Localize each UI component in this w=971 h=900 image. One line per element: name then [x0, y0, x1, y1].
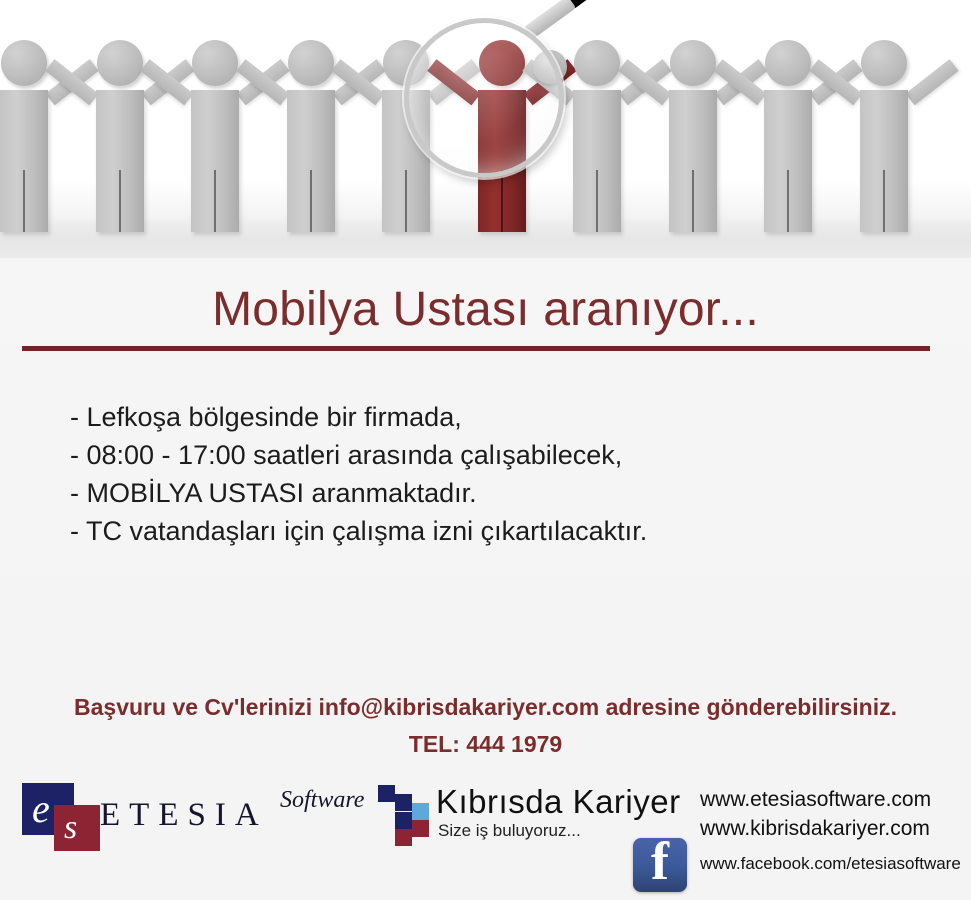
person-figure: [846, 40, 922, 232]
kibrisda-kariyer-wordmark: Kıbrısda Kariyer: [436, 783, 681, 821]
etesia-software-logo: e s ETESIA Software: [18, 783, 368, 853]
job-detail-line: - TC vatandaşları için çalışma izni çıka…: [70, 512, 900, 550]
job-detail-line: - MOBİLYA USTASI aranmaktadır.: [70, 474, 900, 512]
figure-head: [97, 40, 143, 86]
url-etesiasoftware[interactable]: www.etesiasoftware.com: [700, 785, 971, 814]
title-divider: [22, 346, 930, 351]
etesia-mark-s: s: [64, 809, 77, 847]
figure-leg-gap: [596, 170, 598, 232]
figure-head: [192, 40, 238, 86]
kk-square-navy-2: [395, 794, 412, 811]
etesia-wordmark: ETESIA: [100, 797, 268, 834]
figure-leg-gap: [692, 170, 694, 232]
figure-leg-gap: [501, 170, 503, 232]
figure-head: [288, 40, 334, 86]
figure-arm-right: [905, 59, 958, 105]
website-links: www.etesiasoftware.com www.kibrisdakariy…: [700, 785, 971, 877]
kk-square-navy-3: [395, 812, 412, 829]
etesia-suffix: Software: [280, 787, 364, 814]
etesia-mark-e: e: [32, 785, 50, 832]
kk-square-navy-1: [378, 785, 395, 802]
kk-square-red-1: [412, 820, 429, 837]
hero-image: [0, 0, 971, 258]
figure-leg-gap: [23, 170, 25, 232]
figure-body: [860, 90, 908, 232]
figure-leg-gap: [883, 170, 885, 232]
url-kibrisdakariyer[interactable]: www.kibrisdakariyer.com: [700, 814, 971, 843]
job-ad-poster: Mobilya Ustası aranıyor... - Lefkoşa böl…: [0, 0, 971, 900]
job-details-list: - Lefkoşa bölgesinde bir firmada,- 08:00…: [70, 398, 900, 550]
figure-body: [764, 90, 812, 232]
figure-leg-gap: [310, 170, 312, 232]
figure-head: [574, 40, 620, 86]
kibrisda-kariyer-tagline: Size iş buluyoruz...: [438, 821, 581, 841]
kk-square-lightblue: [412, 803, 429, 820]
contact-phone: TEL: 444 1979: [0, 731, 971, 758]
facebook-icon[interactable]: f: [633, 838, 687, 892]
figure-body: [287, 90, 335, 232]
page-title: Mobilya Ustası aranıyor...: [0, 282, 971, 337]
figure-head: [670, 40, 716, 86]
figure-body: [573, 90, 621, 232]
url-facebook[interactable]: www.facebook.com/etesiasoftware: [700, 851, 971, 877]
figure-body: [669, 90, 717, 232]
figure-leg-gap: [119, 170, 121, 232]
figure-body: [0, 90, 48, 232]
job-detail-line: - Lefkoşa bölgesinde bir firmada,: [70, 398, 900, 436]
figure-leg-gap: [405, 170, 407, 232]
figure-body: [96, 90, 144, 232]
figure-head: [765, 40, 811, 86]
figure-leg-gap: [214, 170, 216, 232]
figure-body: [191, 90, 239, 232]
figure-leg-gap: [787, 170, 789, 232]
figure-head: [861, 40, 907, 86]
facebook-glyph: f: [633, 830, 687, 892]
job-detail-line: - 08:00 - 17:00 saatleri arasında çalışa…: [70, 436, 900, 474]
contact-instruction: Başvuru ve Cv'lerinizi info@kibrisdakari…: [0, 694, 971, 721]
kk-square-red-2: [395, 829, 412, 846]
figure-head: [1, 40, 47, 86]
magnifier-lens-icon: [404, 18, 564, 178]
